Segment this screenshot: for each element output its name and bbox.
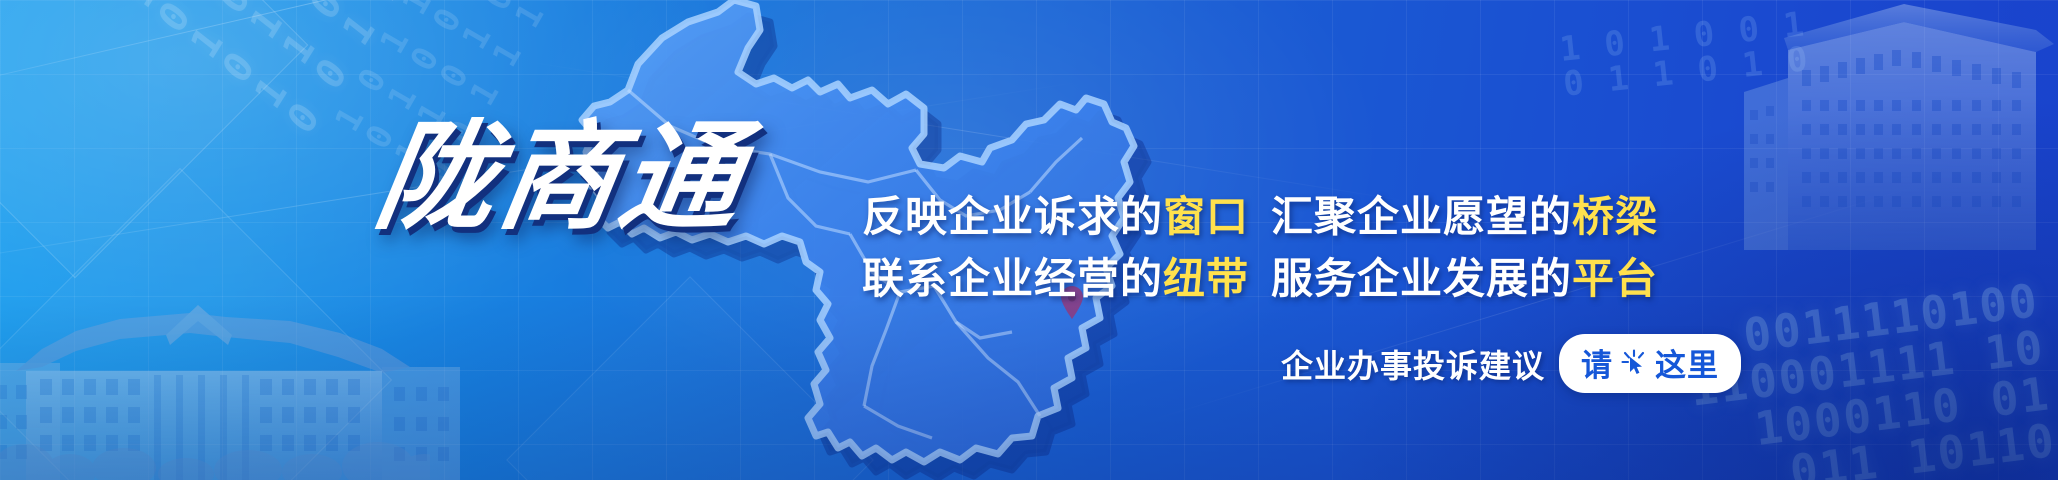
click-here-text-after: 这里: [1655, 340, 1719, 385]
click-cursor-icon: [1619, 348, 1649, 378]
cta-label: 企业办事投诉建议: [1281, 341, 1545, 387]
tagline-block: 反映企业诉求的窗口汇聚企业愿望的桥梁 联系企业经营的纽带服务企业发展的平台: [862, 186, 1682, 310]
tagline-1-highlight-1: 窗口: [1163, 192, 1249, 241]
banner-content: 陇商通 反映企业诉求的窗口汇聚企业愿望的桥梁 联系企业经营的纽带服务企业发展的平…: [0, 0, 2058, 480]
page-title: 陇商通: [369, 118, 754, 236]
tagline-row-1: 反映企业诉求的窗口汇聚企业愿望的桥梁: [862, 186, 1682, 248]
tagline-2-part-2: 服务企业发展的: [1271, 254, 1572, 303]
banner-root: 1 0 0 1 0 1 0 1 1 0 0 1 1 0 0 1 1 0 0 1 …: [0, 0, 2058, 480]
click-here-text-before: 请: [1581, 340, 1613, 385]
tagline-1-highlight-2: 桥梁: [1572, 192, 1658, 241]
tagline-2-highlight-1: 纽带: [1163, 254, 1249, 303]
tagline-row-2: 联系企业经营的纽带服务企业发展的平台: [862, 248, 1682, 310]
cta-row: 企业办事投诉建议 请 这里: [1281, 334, 1741, 393]
tagline-1-part-1: 反映企业诉求的: [862, 192, 1163, 241]
tagline-2-highlight-2: 平台: [1572, 254, 1658, 303]
tagline-1-part-2: 汇聚企业愿望的: [1271, 192, 1572, 241]
click-here-button[interactable]: 请 这里: [1559, 334, 1741, 393]
tagline-2-part-1: 联系企业经营的: [862, 254, 1163, 303]
